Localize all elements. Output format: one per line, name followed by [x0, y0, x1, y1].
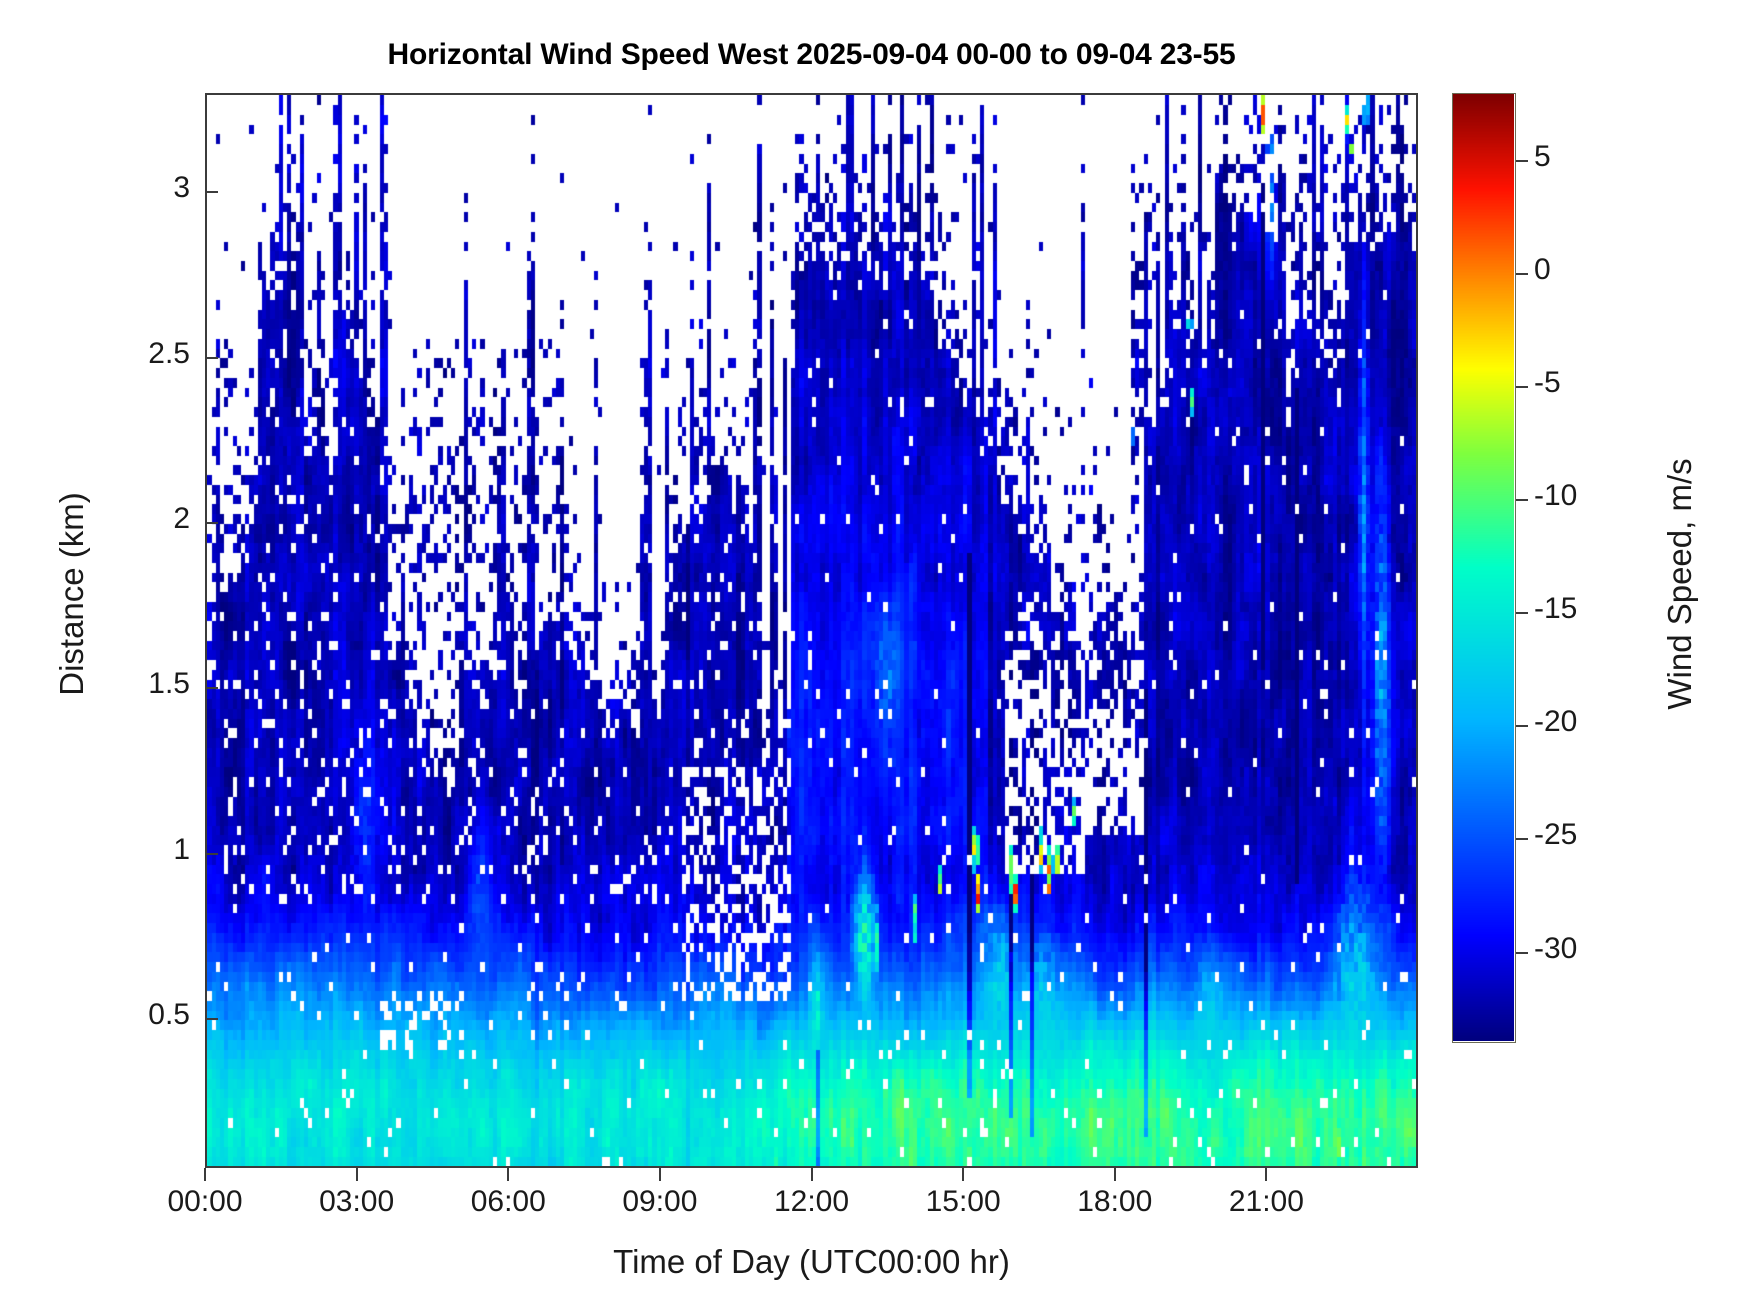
colorbar-tick-label: -30	[1534, 932, 1577, 966]
y-axis-label: Distance (km)	[53, 414, 91, 774]
y-tick-mark	[205, 687, 218, 689]
colorbar-tick-label: 5	[1534, 140, 1551, 174]
colorbar-tick-label: -20	[1534, 705, 1577, 739]
x-tick-label: 06:00	[471, 1185, 546, 1219]
plot-axes	[205, 93, 1418, 1168]
y-tick-mark	[205, 357, 218, 359]
x-tick-label: 00:00	[167, 1185, 242, 1219]
x-tick-label: 15:00	[926, 1185, 1001, 1219]
y-tick-mark	[205, 191, 218, 193]
x-tick-mark	[1265, 1168, 1267, 1181]
x-tick-label: 03:00	[319, 1185, 394, 1219]
colorbar-tick-label: -25	[1534, 818, 1577, 852]
y-tick-label: 3	[60, 171, 190, 205]
y-tick-mark	[205, 853, 218, 855]
colorbar-tick-label: 0	[1534, 253, 1551, 287]
page-title: Horizontal Wind Speed West 2025-09-04 00…	[205, 38, 1418, 72]
colorbar-tick-mark	[1516, 838, 1528, 840]
colorbar-tick-mark	[1516, 160, 1528, 162]
colorbar-tick-mark	[1516, 386, 1528, 388]
colorbar-tick-label: -5	[1534, 366, 1561, 400]
figure-canvas: Horizontal Wind Speed West 2025-09-04 00…	[0, 0, 1750, 1313]
x-tick-mark	[356, 1168, 358, 1181]
colorbar-tick-mark	[1516, 725, 1528, 727]
x-axis-label: Time of Day (UTC00:00 hr)	[205, 1243, 1418, 1281]
y-tick-mark	[205, 1018, 218, 1020]
x-tick-mark	[811, 1168, 813, 1181]
x-tick-mark	[1114, 1168, 1116, 1181]
colorbar-label: Wind Speed, m/s	[1661, 404, 1699, 764]
y-tick-label: 2.5	[60, 337, 190, 371]
colorbar-tick-label: -15	[1534, 592, 1577, 626]
y-tick-label: 0.5	[60, 998, 190, 1032]
y-tick-label: 1	[60, 833, 190, 867]
colorbar-tick-mark	[1516, 273, 1528, 275]
x-tick-mark	[962, 1168, 964, 1181]
y-tick-mark	[205, 522, 218, 524]
x-tick-label: 18:00	[1077, 1185, 1152, 1219]
x-tick-label: 21:00	[1229, 1185, 1304, 1219]
x-tick-mark	[507, 1168, 509, 1181]
colorbar-tick-mark	[1516, 499, 1528, 501]
x-tick-label: 09:00	[622, 1185, 697, 1219]
colorbar-tick-mark	[1516, 952, 1528, 954]
x-tick-mark	[659, 1168, 661, 1181]
x-tick-mark	[204, 1168, 206, 1181]
heatmap-image	[207, 95, 1416, 1166]
colorbar-gradient	[1453, 94, 1514, 1041]
colorbar-tick-mark	[1516, 612, 1528, 614]
colorbar[interactable]	[1452, 93, 1516, 1043]
x-tick-label: 12:00	[774, 1185, 849, 1219]
colorbar-tick-label: -10	[1534, 479, 1577, 513]
